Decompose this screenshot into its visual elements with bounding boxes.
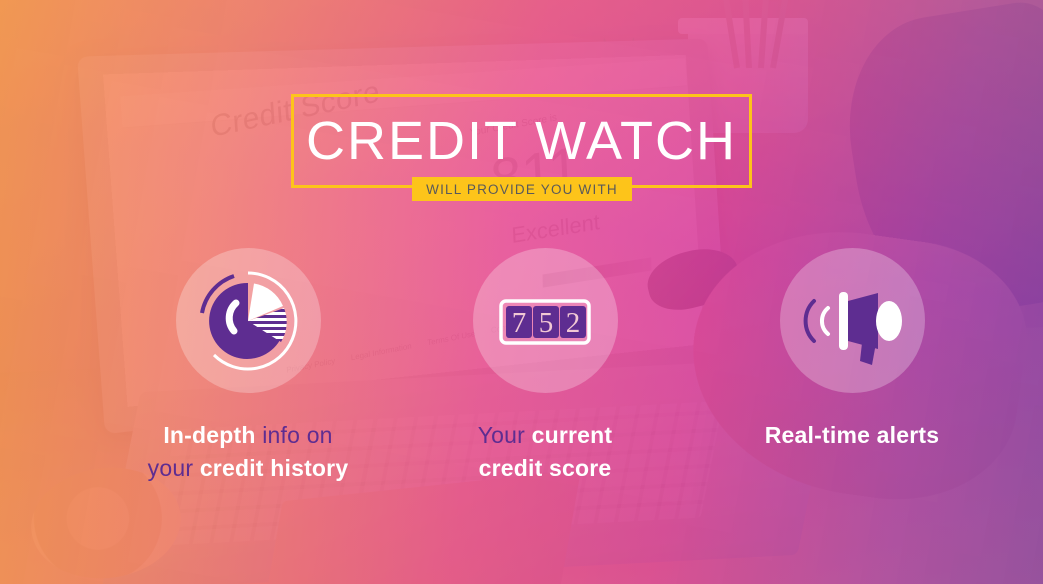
feature-caption-line-1: Your current <box>478 419 613 452</box>
feature-icon-circle: 7 5 2 <box>473 248 618 393</box>
feature-icon-circle <box>176 248 321 393</box>
feature-item-alerts: Real-time alerts <box>702 248 1002 486</box>
feature-caption-line-1: Real-time alerts <box>765 419 940 452</box>
feature-caption: Real-time alerts <box>765 419 940 452</box>
caption-segment: credit score <box>479 455 612 481</box>
score-digits-icon: 7 5 2 <box>485 261 605 381</box>
feature-caption-line-1: In-depth info on <box>148 419 349 452</box>
feature-caption-line-2: credit score <box>478 452 613 485</box>
pie-chart-icon <box>188 261 308 381</box>
feature-caption: Your current credit score <box>478 419 613 486</box>
page-title: CREDIT WATCH <box>291 94 752 188</box>
caption-segment: Your <box>478 422 532 448</box>
subtitle-banner: WILL PROVIDE YOU WITH <box>412 177 632 201</box>
score-digit-3: 2 <box>566 307 581 339</box>
feature-list: In-depth info on your credit history 7 5… <box>0 248 1043 486</box>
credit-watch-slide: Credit Score Your Credit Score is 811 Ex… <box>0 0 1043 584</box>
caption-segment: In-depth <box>163 422 255 448</box>
feature-caption-line-2: your credit history <box>148 452 349 485</box>
feature-item-credit-score: 7 5 2 Your current credit score <box>400 248 690 486</box>
caption-segment: Real-time alerts <box>765 422 940 448</box>
feature-caption: In-depth info on your credit history <box>148 419 349 486</box>
megaphone-icon <box>792 261 912 381</box>
feature-icon-circle <box>780 248 925 393</box>
caption-segment: your <box>148 455 200 481</box>
score-digit-1: 7 <box>512 307 527 339</box>
caption-segment: credit history <box>200 455 349 481</box>
score-digit-2: 5 <box>539 307 554 339</box>
feature-item-credit-history: In-depth info on your credit history <box>78 248 418 486</box>
caption-segment: info on <box>256 422 333 448</box>
caption-segment: current <box>532 422 613 448</box>
